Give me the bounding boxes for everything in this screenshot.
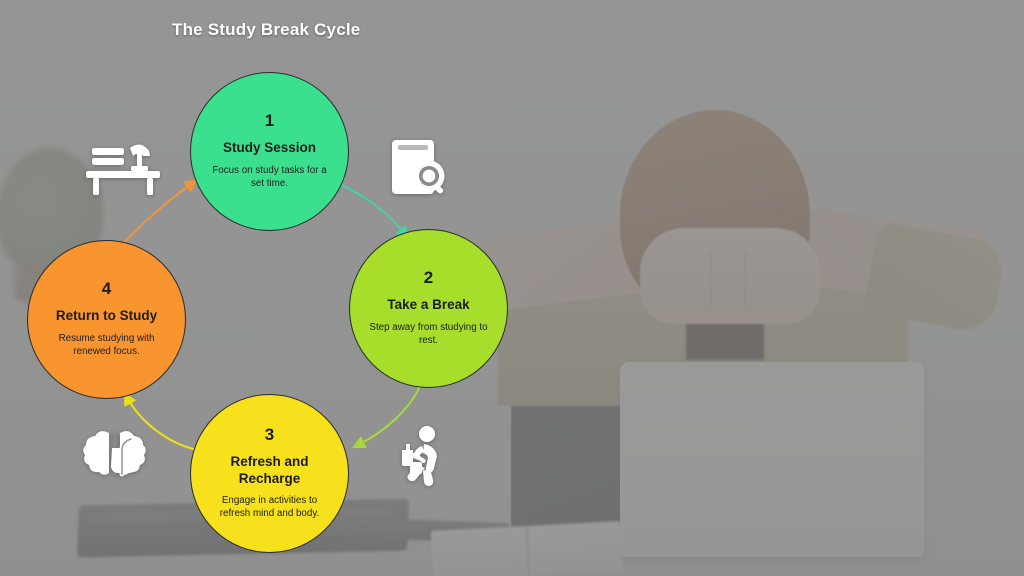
node-description: Engage in activities to refresh mind and… bbox=[207, 495, 332, 521]
node-description: Focus on study tasks for a set time. bbox=[207, 165, 332, 191]
node-title: Return to Study bbox=[56, 308, 157, 324]
cycle-node-2[interactable]: 2 Take a Break Step away from studying t… bbox=[349, 229, 508, 388]
node-number: 1 bbox=[265, 112, 274, 129]
node-description: Step away from studying to rest. bbox=[366, 322, 491, 348]
node-title: Take a Break bbox=[387, 297, 469, 313]
node-description: Resume studying with renewed focus. bbox=[44, 333, 169, 359]
node-number: 4 bbox=[102, 280, 111, 297]
infographic-slide: The Study Break Cycle bbox=[0, 0, 1024, 576]
node-number: 2 bbox=[424, 269, 433, 286]
cycle-node-4[interactable]: 4 Return to Study Resume studying with r… bbox=[27, 240, 186, 399]
node-title: Refresh and Recharge bbox=[207, 454, 332, 487]
brain-refresh-icon bbox=[82, 424, 150, 486]
page-title: The Study Break Cycle bbox=[172, 20, 360, 40]
node-number: 3 bbox=[265, 426, 274, 443]
book-search-icon bbox=[388, 134, 450, 200]
cycle-node-1[interactable]: 1 Study Session Focus on study tasks for… bbox=[190, 72, 349, 231]
diagram-layer: The Study Break Cycle bbox=[0, 0, 1024, 576]
node-title: Study Session bbox=[223, 140, 316, 156]
cycle-node-3[interactable]: 3 Refresh and Recharge Engage in activit… bbox=[190, 394, 349, 553]
study-desk-icon bbox=[82, 138, 164, 200]
walking-person-icon bbox=[394, 424, 452, 490]
